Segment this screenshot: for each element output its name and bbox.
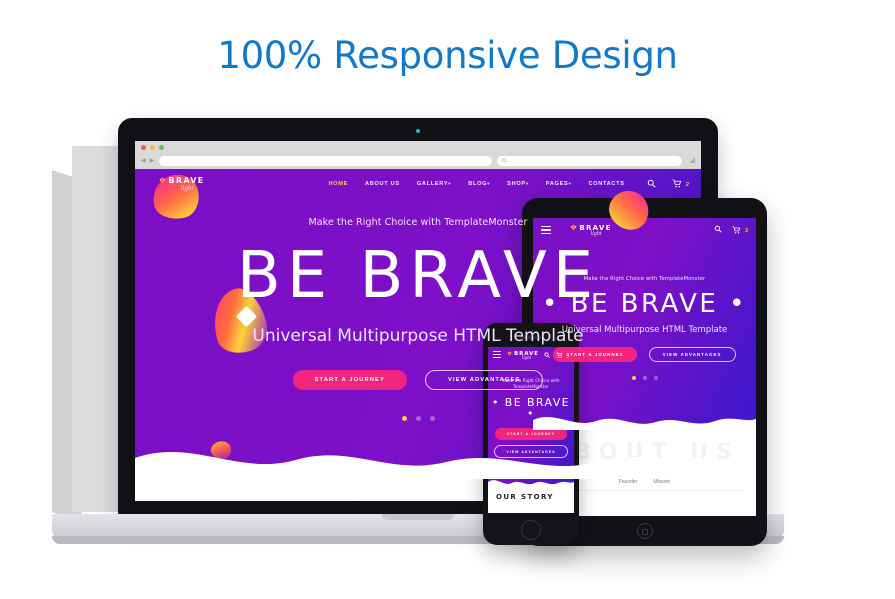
navbar-tools-tablet: 2 (714, 225, 748, 235)
menu-item-about-us[interactable]: ABOUT US (365, 181, 400, 187)
diamond-gem-icon (159, 177, 166, 184)
slider-dot-2[interactable] (416, 416, 421, 421)
page-title: 100% Responsive Design (0, 34, 895, 77)
brand-script: light (590, 231, 601, 237)
cart-button[interactable]: 2 (672, 179, 689, 188)
close-window-icon[interactable] (141, 145, 146, 150)
wave-divider (533, 409, 756, 430)
chevron-down-icon: ▾ (448, 181, 451, 186)
window-controls[interactable] (141, 145, 164, 150)
phone-home-button[interactable] (521, 520, 541, 540)
website-phone: BRAVE light 2 (488, 347, 574, 513)
menu-item-shop-label: SHOP (507, 181, 526, 187)
menu-item-about-us-label: ABOUT US (365, 181, 400, 187)
menu-item-contacts[interactable]: CONTACTS (588, 181, 624, 187)
browser-toolbar: ◀ ▶ ◢ (135, 154, 701, 169)
brand-logo-tablet[interactable]: BRAVE light (560, 224, 622, 237)
menu-item-blog-label: BLOG (468, 181, 487, 187)
minimize-window-icon[interactable] (150, 145, 155, 150)
chevron-down-icon: ▾ (487, 181, 490, 186)
responsive-preview-stage: 100% Responsive Design ◀ ▶ (0, 0, 895, 599)
brand-logo[interactable]: BRAVE light (151, 176, 213, 192)
navbar-tools-phone: 2 (544, 352, 569, 360)
resize-grip-icon[interactable]: ◢ (687, 157, 695, 164)
search-icon[interactable] (544, 352, 550, 360)
tablet-home-button[interactable] (637, 523, 653, 539)
slider-dot-2[interactable] (643, 376, 647, 380)
laptop-base-notch (382, 514, 454, 520)
laptop-camera-icon (416, 129, 420, 133)
cart-button[interactable]: 2 (556, 352, 569, 360)
about-tab-mission[interactable]: Mission (653, 479, 670, 485)
diamond-gem-icon (507, 351, 512, 356)
slider-dot-1[interactable] (402, 416, 407, 421)
browser-nav-arrows[interactable]: ◀ ▶ (141, 158, 154, 164)
brand-script: light (181, 184, 194, 192)
maximize-window-icon[interactable] (159, 145, 164, 150)
search-icon[interactable] (647, 179, 656, 190)
brand-logo-phone[interactable]: BRAVE light (507, 351, 539, 361)
navbar-tools: 2 (647, 179, 689, 190)
chevron-down-icon: ▾ (568, 181, 571, 186)
chevron-down-icon: ▾ (526, 181, 529, 186)
back-icon[interactable]: ◀ (141, 158, 146, 164)
brand-script: light (522, 356, 531, 361)
hero-kicker: Make the Right Choice with TemplateMonst… (533, 276, 756, 282)
search-icon (502, 158, 507, 163)
view-advantages-button[interactable]: VIEW ADVANTAGES (649, 347, 736, 362)
diamond-gem-icon (570, 224, 577, 231)
hero-subtitle: Universal Multipurpose HTML Template (533, 325, 756, 335)
device-phone: BRAVE light 2 (483, 323, 579, 545)
hamburger-menu-icon[interactable] (493, 351, 501, 360)
site-navbar-phone: BRAVE light 2 (488, 347, 574, 364)
hero-kicker: Make the Right Choice with TemplateMonst… (488, 378, 574, 390)
menu-item-pages-label: PAGES (546, 181, 569, 187)
slider-dot-3[interactable] (430, 416, 435, 421)
main-menu: HOME ABOUT US GALLERY▾ BLOG▾ SHOP▾ PAGES… (328, 181, 624, 187)
phone-screen: BRAVE light 2 (488, 347, 574, 513)
address-bar-input[interactable] (159, 156, 492, 166)
start-a-journey-button[interactable]: START A JOURNEY (293, 370, 407, 390)
site-navbar: BRAVE light HOME ABOUT US GALLERY▾ BLOG▾… (135, 169, 701, 199)
browser-titlebar (135, 141, 701, 154)
menu-item-gallery-label: GALLERY (417, 181, 448, 187)
menu-item-home-label: HOME (328, 181, 348, 187)
wave-divider (135, 436, 701, 479)
menu-item-shop[interactable]: SHOP▾ (507, 181, 529, 187)
about-section-phone: OUR STORY (488, 487, 574, 513)
menu-item-blog[interactable]: BLOG▾ (468, 181, 490, 187)
cart-button[interactable]: 2 (732, 226, 748, 234)
cart-count-badge: 2 (745, 228, 748, 234)
slider-dot-3[interactable] (654, 376, 658, 380)
wave-divider (488, 476, 574, 487)
menu-item-pages[interactable]: PAGES▾ (546, 181, 572, 187)
cart-count-badge: 2 (567, 354, 569, 359)
forward-icon[interactable]: ▶ (150, 158, 155, 164)
site-navbar-tablet: BRAVE light 2 (533, 218, 756, 242)
hero-title: • BE BRAVE • (533, 291, 756, 317)
about-tab-founder[interactable]: Founder (619, 479, 638, 485)
menu-item-home[interactable]: HOME (328, 181, 348, 187)
hamburger-menu-icon[interactable] (541, 226, 551, 235)
cart-count-badge: 2 (686, 182, 689, 188)
menu-item-gallery[interactable]: GALLERY▾ (417, 181, 451, 187)
search-icon[interactable] (714, 225, 722, 235)
our-story-title: OUR STORY (488, 487, 574, 501)
menu-item-contacts-label: CONTACTS (588, 181, 624, 187)
browser-search-input[interactable] (497, 156, 682, 166)
phone-body: BRAVE light 2 (483, 323, 579, 545)
slider-dot-1[interactable] (632, 376, 636, 380)
